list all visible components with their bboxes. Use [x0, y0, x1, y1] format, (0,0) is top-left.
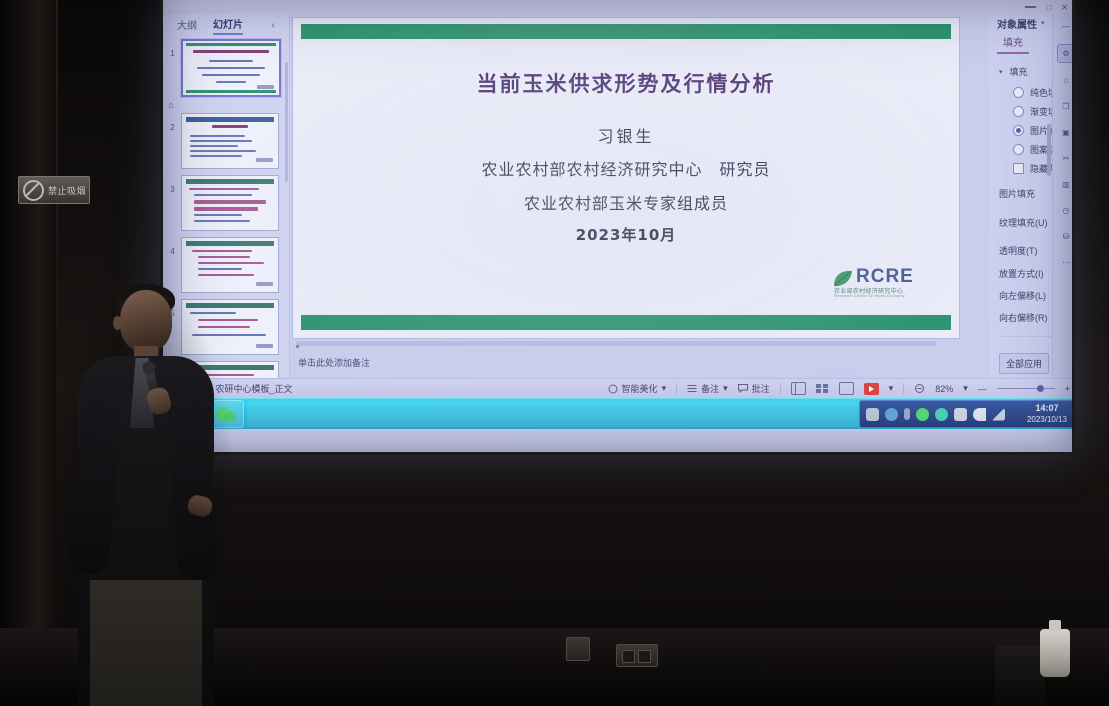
zoom-in-button[interactable]: + [1065, 384, 1070, 394]
tab-slides[interactable]: 幻灯片 [213, 16, 243, 35]
minimize-icon[interactable] [1025, 6, 1036, 8]
projection-screen: □ ✕ 大纲 幻灯片 ‹ 1 [160, 0, 1075, 455]
divider [676, 383, 677, 394]
system-tray: 14:07 2023/10/13 [859, 400, 1072, 428]
zoom-slider-knob[interactable] [1037, 385, 1044, 392]
thumb-text-line [189, 188, 259, 190]
checkbox-icon[interactable] [1013, 163, 1024, 174]
thumb-text-line [190, 150, 256, 152]
thumb-text-line [194, 220, 250, 222]
shape-properties-icon[interactable]: ⚙ [1057, 44, 1073, 63]
wechat-tray-icon[interactable] [916, 408, 929, 421]
panel-title: 对象属性 [997, 16, 1037, 31]
thumb-text-line [202, 74, 260, 76]
close-icon[interactable]: ✕ [1061, 3, 1068, 12]
radio-icon[interactable] [1013, 144, 1024, 155]
slide-accent-bottom [301, 315, 951, 330]
reading-view-icon[interactable] [839, 382, 854, 395]
picture-fill-label: 图片填充 [999, 187, 1051, 200]
history-clock-icon[interactable]: ◷ [1058, 202, 1073, 219]
presenter-lower-body [90, 580, 202, 706]
chevron-down-icon[interactable]: ▾ [889, 383, 894, 394]
right-icon-rail: — ⚙ ☆ ❐ ▣ ✂ ▥ ◷ ⛁ ⋯ [1052, 14, 1072, 382]
collapse-pane-icon[interactable]: ‹ [272, 20, 275, 31]
home-icon[interactable]: ⌂ [163, 100, 179, 110]
slide-thumbnail-1[interactable] [181, 39, 281, 97]
thumb-header-band [186, 241, 274, 246]
divider [903, 383, 904, 394]
thumb-logo [257, 85, 274, 89]
chevron-down-icon[interactable]: ▾ [662, 383, 667, 394]
thumb-header-band [186, 117, 274, 122]
object-properties-panel-anchor: 对象属性 ▾ ✕ 填充 [991, 14, 1050, 378]
conference-room-scene: 禁止吸烟 □ ✕ 大纲 幻灯片 ‹ [0, 0, 1109, 706]
current-slide-canvas[interactable]: 当前玉米供求形势及行情分析 习银生 农业农村部农村经济研究中心 研究员 农业农村… [292, 17, 960, 339]
resources-icon[interactable]: ⛁ [1058, 228, 1073, 245]
no-smoking-sign: 禁止吸烟 [18, 176, 90, 204]
rcre-subtitle-en: Research Center for Rural Economy [834, 293, 905, 298]
wps-presentation-window: □ ✕ 大纲 幻灯片 ‹ 1 [163, 0, 1072, 420]
rcre-logo: RCRE 农业部农村经济研究中心 Research Center for Rur… [832, 266, 937, 302]
update-icon[interactable] [885, 408, 898, 421]
slide-editor-area: 当前玉米供求形势及行情分析 习银生 农业农村部农村经济研究中心 研究员 农业农村… [290, 14, 990, 378]
taskbar-clock[interactable]: 14:07 2023/10/13 [1027, 403, 1067, 425]
volume-tray-icon[interactable] [973, 408, 986, 421]
transparency-label: 透明度(T) [999, 244, 1051, 257]
thumb-text-line [190, 145, 238, 147]
smart-beautify-button[interactable]: 智能美化 ▾ [608, 382, 667, 395]
thumb-title-line [193, 50, 269, 53]
notes-placeholder[interactable]: 单击此处添加备注 [292, 350, 958, 374]
slide-number: 4 [167, 237, 178, 256]
qq-tray-icon[interactable] [935, 408, 948, 421]
thumb-text-line [198, 262, 264, 264]
magic-wand-icon [608, 384, 618, 394]
more-options-icon[interactable]: ⋯ [1058, 254, 1073, 271]
thumb-text-line [194, 207, 258, 211]
slide-affiliation-2[interactable]: 农业农村部玉米专家组成员 [293, 190, 959, 214]
panel-scrollbar[interactable] [1047, 124, 1051, 176]
radio-icon-selected[interactable] [1013, 125, 1024, 136]
notes-icon [687, 384, 697, 393]
thumb-text-line [197, 67, 265, 69]
notes-bullet-icon [296, 345, 299, 348]
slide-author[interactable]: 习银生 [293, 123, 959, 147]
radio-icon[interactable] [1013, 106, 1024, 117]
comment-icon [738, 384, 748, 393]
wall-outlet [566, 637, 590, 661]
offset-right-label: 向右偏移(R) [999, 311, 1051, 324]
slide-accent-top [301, 24, 951, 39]
fit-to-window-icon[interactable] [914, 383, 925, 394]
thumb-text-line [209, 60, 253, 62]
thumb-accent-bottom [186, 90, 276, 93]
minimize-rail-icon[interactable]: — [1058, 18, 1073, 35]
thumb-header-band [186, 179, 274, 184]
thumb-text-line [190, 155, 242, 157]
network-tray-icon[interactable] [992, 408, 1005, 421]
show-desktop-icon[interactable] [866, 408, 879, 421]
status-bar-right: 智能美化 ▾ 备注 ▾ [608, 382, 1070, 395]
wall-socket [616, 644, 658, 667]
foreground-object [995, 645, 1045, 706]
security-tray-icon[interactable] [954, 408, 967, 421]
slide-thumbnail-3[interactable] [181, 175, 279, 231]
slide-number: 1 [167, 39, 178, 58]
slide-number: 3 [167, 175, 178, 194]
smart-beautify-label: 智能美化 [622, 382, 658, 395]
slide-thumbnail-2[interactable] [181, 113, 279, 169]
no-smoking-icon [23, 180, 44, 201]
rcre-wordmark: RCRE [856, 266, 914, 288]
thumb-title-line [212, 125, 248, 128]
thumbnail-item[interactable]: 2 [163, 110, 289, 172]
presenter-ear [113, 316, 122, 330]
thumbnail-item[interactable]: 1 [163, 36, 289, 100]
chevron-down-icon[interactable]: ▾ [723, 383, 728, 394]
play-slideshow-icon[interactable] [864, 383, 879, 395]
slide-title[interactable]: 当前玉米供求形势及行情分析 [293, 68, 959, 98]
notes-label: 备注 [701, 382, 719, 395]
slide-affiliation-1[interactable]: 农业农村部农村经济研究中心 研究员 [293, 156, 959, 180]
presenter [60, 280, 220, 706]
projected-desktop: □ ✕ 大纲 幻灯片 ‹ 1 [163, 0, 1072, 452]
divider [780, 383, 781, 394]
zoom-out-button[interactable]: — [978, 384, 987, 394]
normal-view-icon[interactable] [791, 382, 806, 395]
apply-all-button[interactable]: 全部应用 [999, 353, 1049, 374]
usb-icon[interactable] [904, 408, 910, 420]
image-library-icon[interactable]: ❐ [1058, 98, 1073, 115]
windows-taskbar: 7 [163, 398, 1072, 429]
maximize-icon[interactable]: □ [1046, 3, 1051, 12]
fill-group-toggle-icon[interactable]: ▾ [999, 68, 1005, 76]
notes-toggle-button[interactable]: 备注 ▾ [687, 382, 728, 395]
chevron-down-icon[interactable]: ▾ [963, 383, 968, 394]
thumb-text-line [198, 256, 250, 258]
radio-icon[interactable] [1013, 87, 1024, 98]
presenter-head [120, 290, 172, 352]
comments-label: 批注 [752, 382, 770, 395]
ribbon-strip: □ ✕ [163, 0, 1072, 15]
thumbnail-scrollbar[interactable] [285, 62, 288, 182]
thumb-text-line [194, 214, 242, 216]
slide-horizontal-scrollbar[interactable] [296, 341, 936, 346]
offset-left-label: 向左偏移(L) [999, 289, 1051, 302]
star-favorites-icon[interactable]: ☆ [1058, 72, 1073, 89]
slide-number: 2 [167, 113, 178, 132]
thumb-accent-top [186, 43, 276, 46]
status-bar: 1 / 53 农研中心模板_正文 智能美化 [163, 378, 1072, 398]
zoom-slider[interactable] [997, 388, 1055, 389]
slide-date[interactable]: 2023年10月 [293, 224, 959, 245]
tab-fill[interactable]: 填充 [997, 32, 1029, 54]
thumb-text-line [216, 81, 246, 83]
zoom-level: 82% [935, 384, 953, 394]
thumb-text-line [190, 135, 245, 137]
thumbnail-item[interactable]: 3 [163, 172, 289, 234]
thumb-logo [256, 344, 273, 348]
water-bottle [1040, 629, 1070, 677]
layout-grid-icon[interactable]: ▥ [1058, 176, 1073, 193]
outline-slides-tabs: 大纲 幻灯片 ‹ [163, 14, 289, 36]
no-smoking-label: 禁止吸烟 [48, 184, 86, 197]
texture-fill-label: 纹理填充(U) [999, 216, 1051, 229]
fill-group-label: 填充 [1010, 65, 1048, 78]
window-controls[interactable]: □ ✕ [1025, 3, 1072, 12]
thumb-text-line [194, 194, 252, 196]
placement-label: 放置方式(I) [999, 267, 1051, 280]
thumb-logo [256, 158, 273, 162]
insert-picture-icon[interactable]: ▣ [1058, 124, 1073, 141]
clock-time: 14:07 [1035, 403, 1058, 413]
tab-outline[interactable]: 大纲 [177, 17, 197, 34]
scissors-clip-icon[interactable]: ✂ [1058, 150, 1073, 167]
panel-caret-icon[interactable]: ▾ [1041, 19, 1045, 27]
slide-sorter-icon[interactable] [816, 383, 829, 394]
thumb-text-line [192, 250, 252, 252]
thumb-logo [256, 282, 273, 286]
thumb-text-line [198, 268, 242, 270]
thumb-text-line [194, 200, 266, 204]
comments-button[interactable]: 批注 [738, 382, 770, 395]
clock-date: 2023/10/13 [1027, 415, 1067, 424]
thumb-text-line [190, 140, 252, 142]
